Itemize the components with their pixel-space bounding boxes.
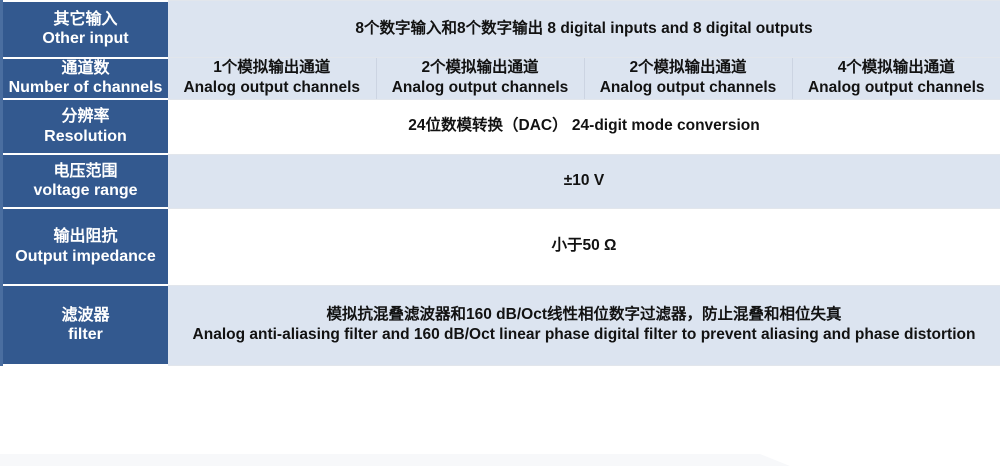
row-value-text: 小于50 Ω [552, 237, 617, 254]
row-value-resolution: 24位数模转换（DAC） 24-digit mode conversion [168, 99, 1000, 154]
channel-cell-4: 4个模拟输出通道 Analog output channels [792, 58, 1000, 99]
row-label-en: Output impedance [3, 247, 168, 267]
row-label-voltage-range: 电压范围 voltage range [2, 154, 169, 208]
row-label-en: filter [3, 325, 168, 345]
row-label-cn: 其它输入 [3, 10, 168, 30]
channel-cell-en: Analog output channels [793, 78, 1000, 98]
channel-cell-cn: 1个模拟输出通道 [168, 58, 376, 78]
slide-canvas: 滤波器 filter 模拟抗混叠滤波器和160 dB/Oct线性相位数字滤波器，… [0, 0, 1000, 466]
channel-cell-cn: 2个模拟输出通道 [585, 58, 792, 78]
row-label-resolution: 分辨率 Resolution [2, 99, 169, 154]
row-label-other-input: 其它输入 Other input [2, 1, 169, 58]
row-label-cn: 通道数 [3, 59, 168, 79]
row-label-en: Number of channels [3, 78, 168, 98]
channel-cell-cn: 4个模拟输出通道 [793, 58, 1000, 78]
channel-cell-1: 1个模拟输出通道 Analog output channels [168, 58, 376, 99]
row-value-text: ±10 V [564, 172, 604, 189]
row-label-filter-bottom: 滤波器 filter [2, 285, 169, 365]
table-row: 滤波器 filter 模拟抗混叠滤波器和160 dB/Oct线性相位数字过滤器，… [2, 285, 1000, 365]
row-label-en: Other input [3, 29, 168, 49]
channel-cell-en: Analog output channels [585, 78, 792, 98]
row-value-output-impedance: 小于50 Ω [168, 208, 1000, 285]
row-value-text: 8个数字输入和8个数字输出 8 digital inputs and 8 dig… [355, 20, 812, 37]
table-row: 分辨率 Resolution 24位数模转换（DAC） 24-digit mod… [2, 99, 1000, 154]
channel-cell-en: Analog output channels [168, 78, 376, 98]
row-label-cn: 分辨率 [3, 107, 168, 127]
row-label-en: Resolution [3, 127, 168, 147]
channel-cell-cn: 2个模拟输出通道 [377, 58, 584, 78]
row-value-text: 24位数模转换（DAC） 24-digit mode conversion [408, 117, 759, 134]
row-value-cn: 模拟抗混叠滤波器和160 dB/Oct线性相位数字过滤器，防止混叠和相位失真 [168, 305, 1000, 325]
row-label-number-of-channels: 通道数 Number of channels [2, 58, 169, 99]
row-label-cn: 滤波器 [3, 306, 168, 326]
bottom-decoration-band [0, 454, 1000, 466]
table-row: 通道数 Number of channels 1个模拟输出通道 Analog o… [2, 58, 1000, 99]
channel-cell-2: 2个模拟输出通道 Analog output channels [376, 58, 584, 99]
row-label-cn: 电压范围 [3, 162, 168, 182]
row-label-en: voltage range [3, 181, 168, 201]
row-value-en: Analog anti-aliasing filter and 160 dB/O… [168, 325, 1000, 345]
specifications-table: 滤波器 filter 模拟抗混叠滤波器和160 dB/Oct线性相位数字滤波器，… [0, 0, 1000, 366]
table-row: 其它输入 Other input 8个数字输入和8个数字输出 8 digital… [2, 1, 1000, 58]
table-row: 输出阻抗 Output impedance 小于50 Ω [2, 208, 1000, 285]
row-value-other-input: 8个数字输入和8个数字输出 8 digital inputs and 8 dig… [168, 1, 1000, 58]
row-label-output-impedance: 输出阻抗 Output impedance [2, 208, 169, 285]
row-label-cn: 输出阻抗 [3, 227, 168, 247]
channel-cell-en: Analog output channels [377, 78, 584, 98]
row-value-voltage-range: ±10 V [168, 154, 1000, 208]
row-value-filter-bottom: 模拟抗混叠滤波器和160 dB/Oct线性相位数字过滤器，防止混叠和相位失真 A… [168, 285, 1000, 365]
channel-cell-3: 2个模拟输出通道 Analog output channels [584, 58, 792, 99]
table-row: 电压范围 voltage range ±10 V [2, 154, 1000, 208]
